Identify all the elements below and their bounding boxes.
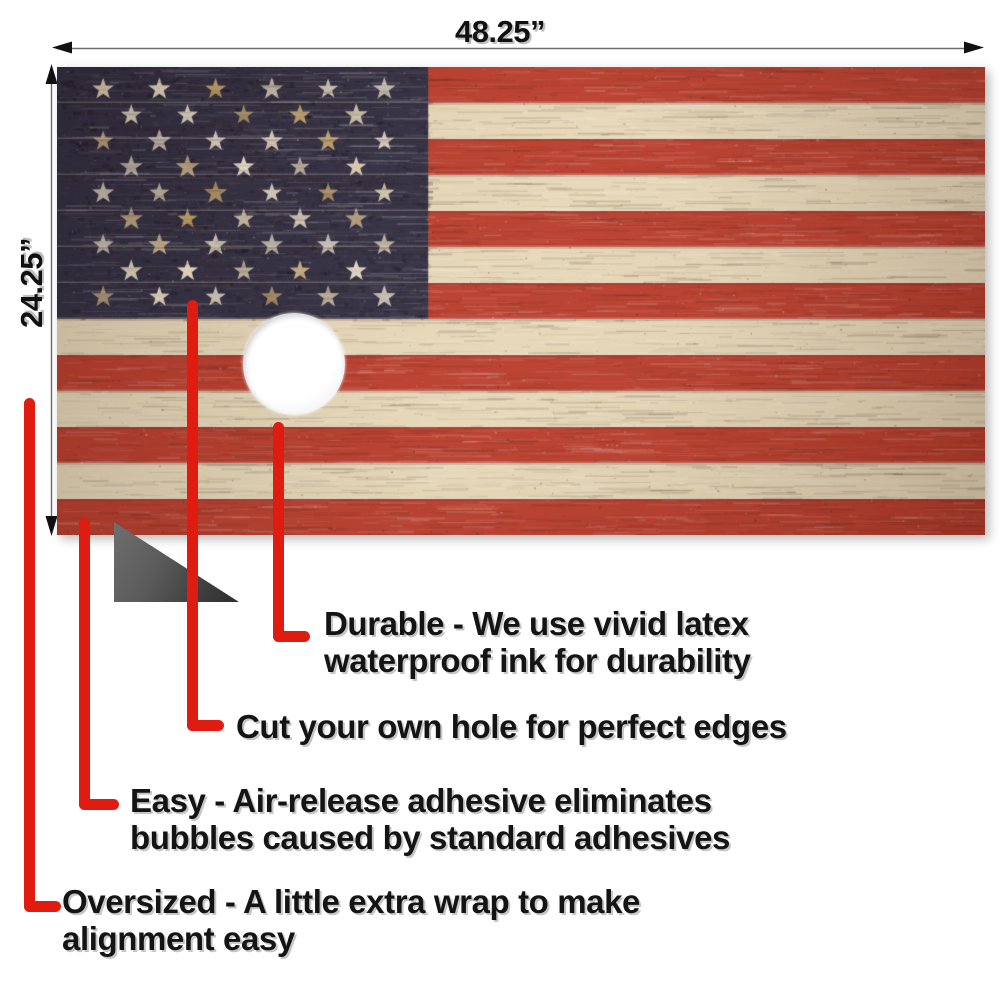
callout-line-easy-horizontal (79, 799, 119, 810)
product-spec-graphic: 48.25” 24.25” Durable - We use vivid lat… (0, 0, 1000, 1000)
callout-line-oversized-horizontal (24, 901, 61, 912)
width-arrowhead-right (958, 40, 984, 58)
callout-line-easy-vertical (79, 518, 90, 810)
width-dimension-label: 48.25” (0, 14, 1000, 50)
callout-line-durable-vertical (273, 422, 284, 642)
callout-line-cuthole-horizontal (187, 720, 224, 731)
callout-text-cut-hole: Cut your own hole for perfect edges (236, 709, 976, 746)
width-arrowhead-left (52, 40, 76, 58)
callout-text-oversized: Oversized - A little extra wrap to make … (62, 884, 942, 958)
callout-text-durable: Durable - We use vivid latex waterproof … (324, 606, 924, 680)
height-dimension-arrow (50, 68, 53, 534)
callout-text-easy: Easy - Air-release adhesive eliminates b… (130, 783, 970, 857)
callout-line-cuthole-vertical (187, 300, 198, 731)
width-dimension-arrow (57, 47, 979, 50)
cut-hole (243, 313, 345, 415)
callout-line-durable-horizontal (273, 631, 310, 642)
height-dimension-label: 24.25” (14, 173, 50, 393)
peeled-corner (114, 522, 239, 602)
callout-line-oversized-vertical (24, 398, 35, 912)
